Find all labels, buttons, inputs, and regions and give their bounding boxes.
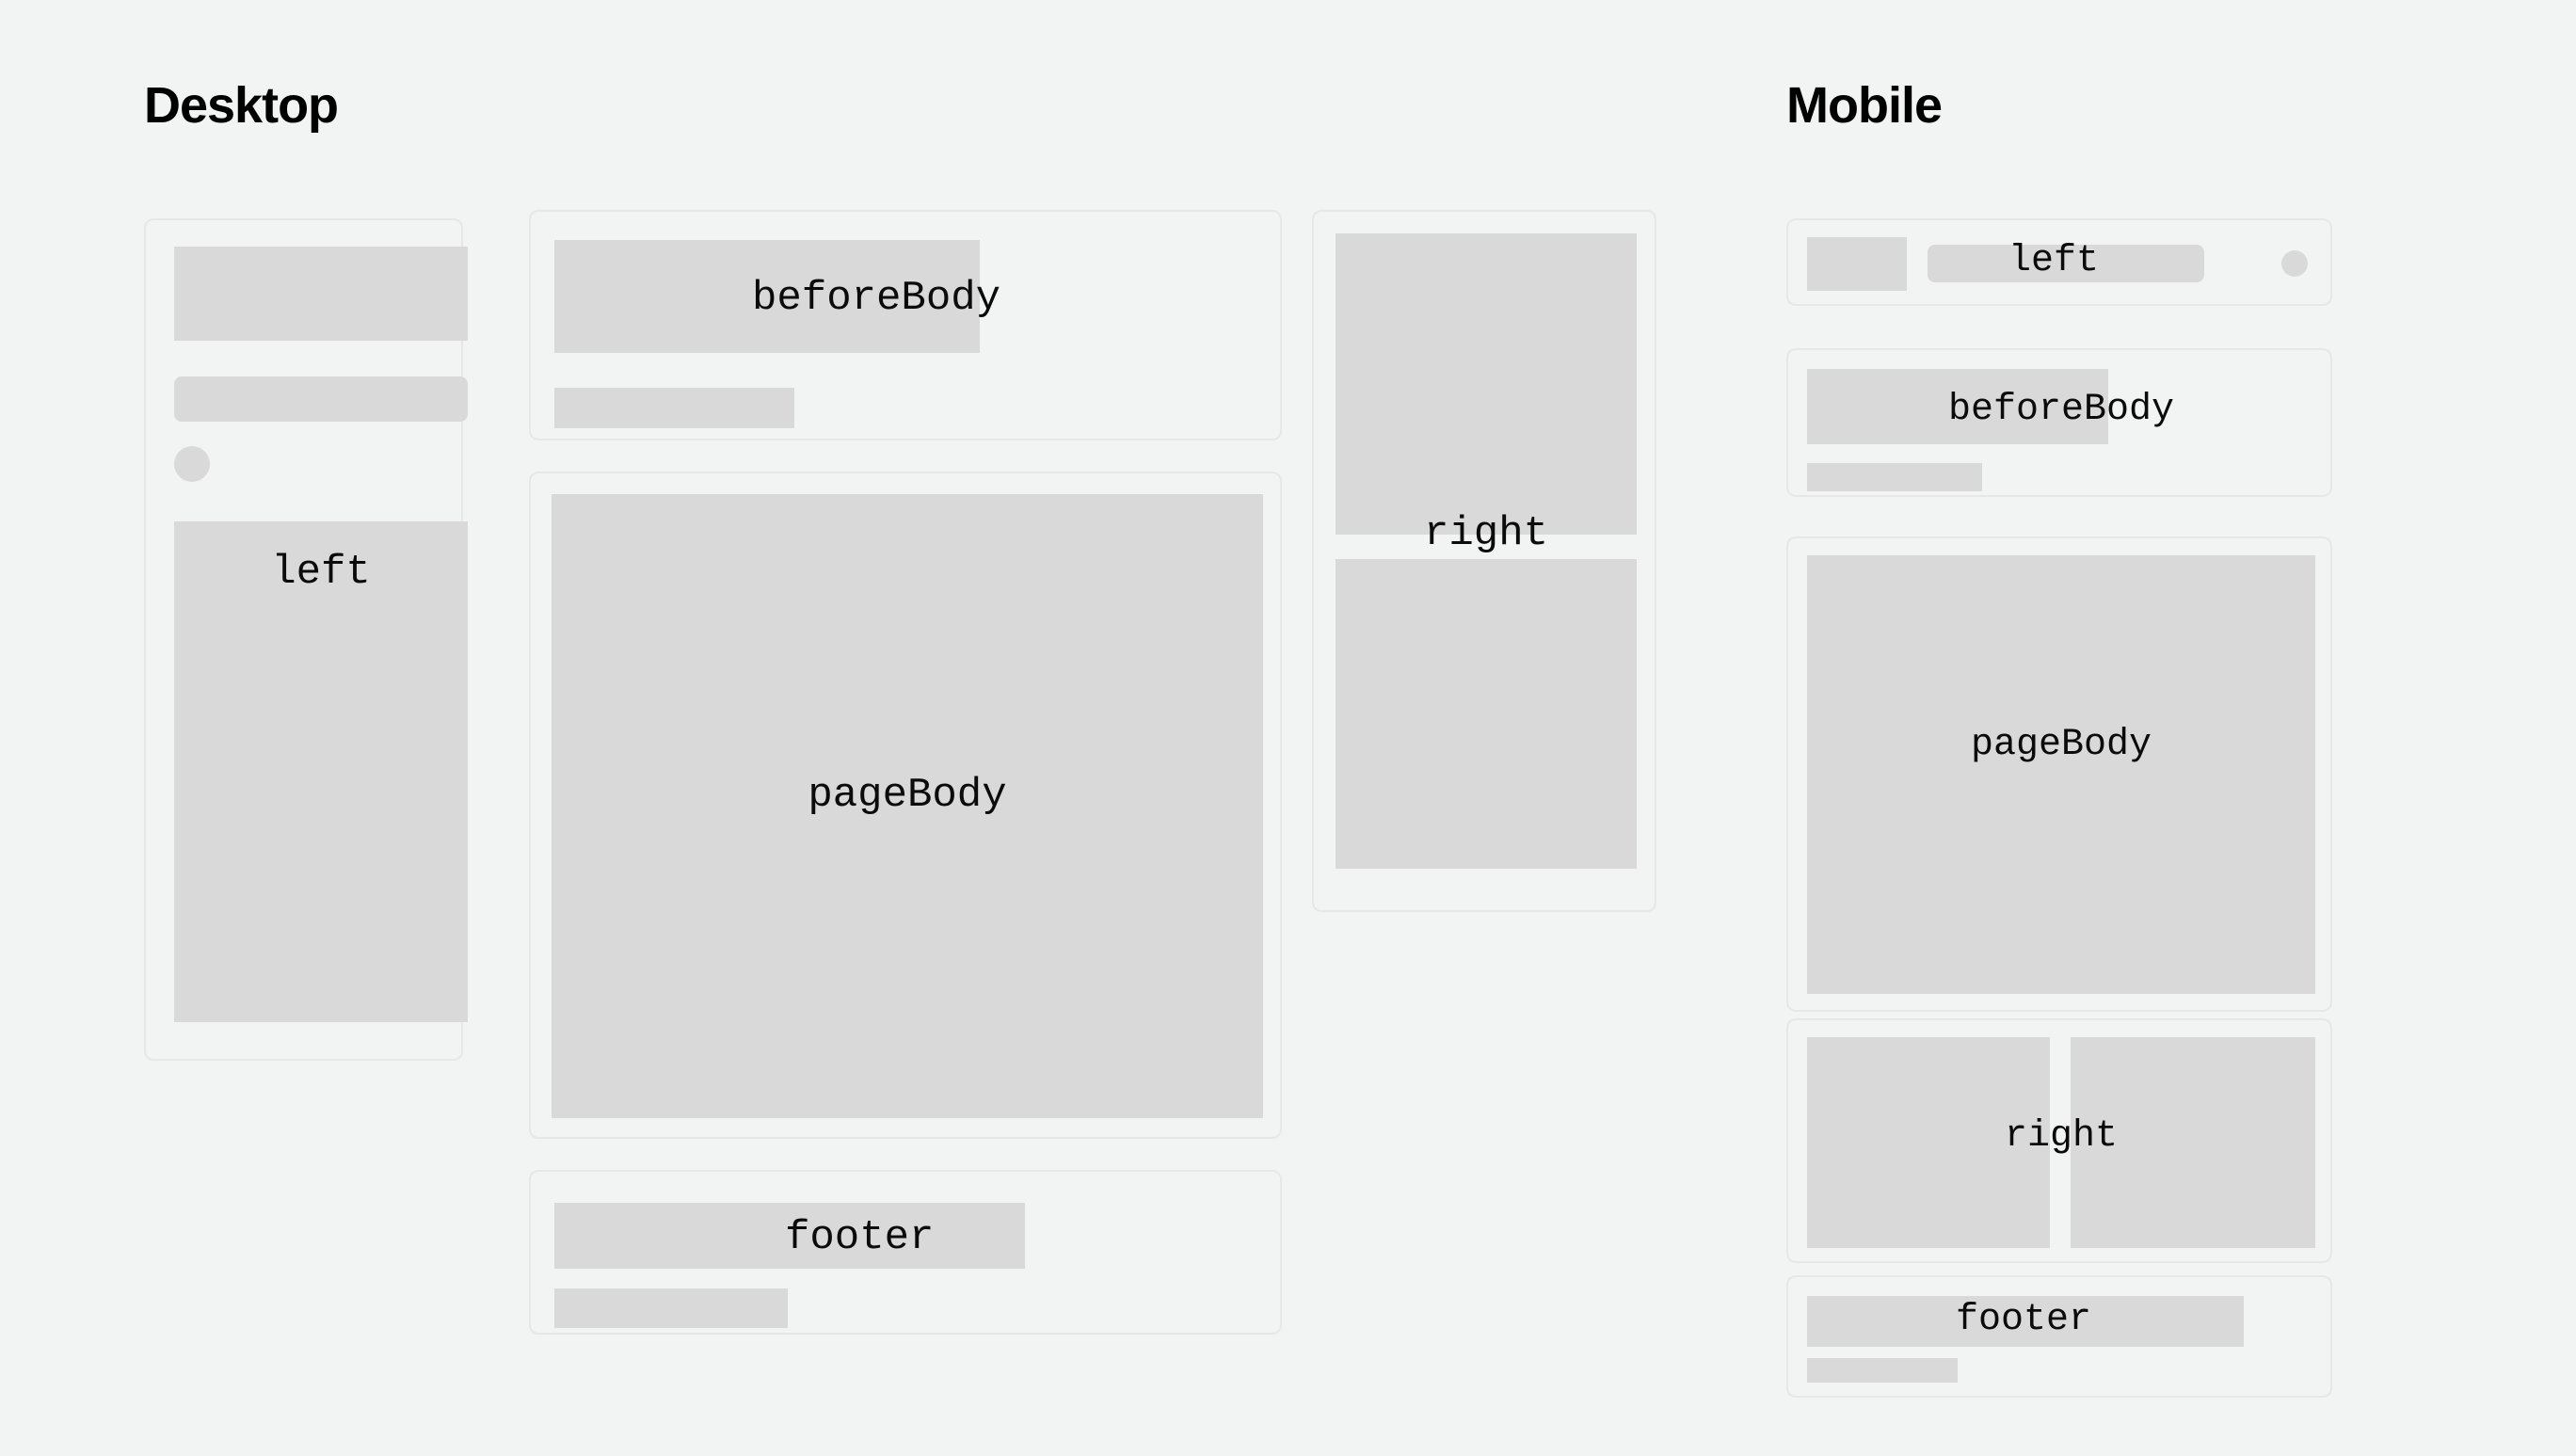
footer-block-small bbox=[554, 1288, 788, 1328]
left-avatar-dot bbox=[174, 446, 210, 482]
footer-block-wide bbox=[554, 1203, 1025, 1269]
right-block-bottom bbox=[1336, 559, 1637, 869]
right-block-left bbox=[1807, 1037, 2050, 1248]
desktop-slot-pagebody[interactable]: pageBody bbox=[529, 472, 1282, 1139]
mobile-slot-left[interactable]: left bbox=[1786, 218, 2332, 306]
beforebody-block-small bbox=[554, 388, 794, 428]
footer-block-small bbox=[1807, 1358, 1958, 1383]
left-block-secondary bbox=[1928, 245, 2204, 282]
pagebody-block-large bbox=[1807, 555, 2315, 994]
desktop-slot-right[interactable]: right bbox=[1312, 210, 1656, 912]
beforebody-block-large bbox=[554, 240, 980, 353]
desktop-slot-left[interactable]: left bbox=[144, 218, 463, 1061]
beforebody-block-small bbox=[1807, 463, 1982, 491]
beforebody-block-large bbox=[1807, 369, 2108, 444]
left-avatar-dot bbox=[2281, 250, 2308, 277]
section-heading-desktop: Desktop bbox=[144, 80, 338, 131]
right-block-top bbox=[1336, 233, 1637, 535]
left-block-primary bbox=[174, 247, 468, 341]
desktop-slot-beforebody[interactable]: beforeBody bbox=[529, 210, 1282, 440]
mobile-slot-beforebody[interactable]: beforeBody bbox=[1786, 348, 2332, 497]
left-block-tall bbox=[174, 521, 468, 1022]
responsive-layout-preview: Desktop left beforeBody pageBody footer … bbox=[0, 0, 2576, 1456]
footer-block-wide bbox=[1807, 1296, 2244, 1347]
desktop-slot-footer[interactable]: footer bbox=[529, 1170, 1282, 1335]
right-block-right bbox=[2071, 1037, 2315, 1248]
pagebody-block-large bbox=[552, 494, 1263, 1118]
left-block-primary bbox=[1807, 237, 1907, 291]
mobile-slot-right[interactable]: right bbox=[1786, 1018, 2332, 1263]
mobile-slot-footer[interactable]: footer bbox=[1786, 1275, 2332, 1398]
mobile-slot-pagebody[interactable]: pageBody bbox=[1786, 536, 2332, 1012]
left-block-secondary bbox=[174, 376, 468, 422]
section-heading-mobile: Mobile bbox=[1786, 80, 1942, 131]
